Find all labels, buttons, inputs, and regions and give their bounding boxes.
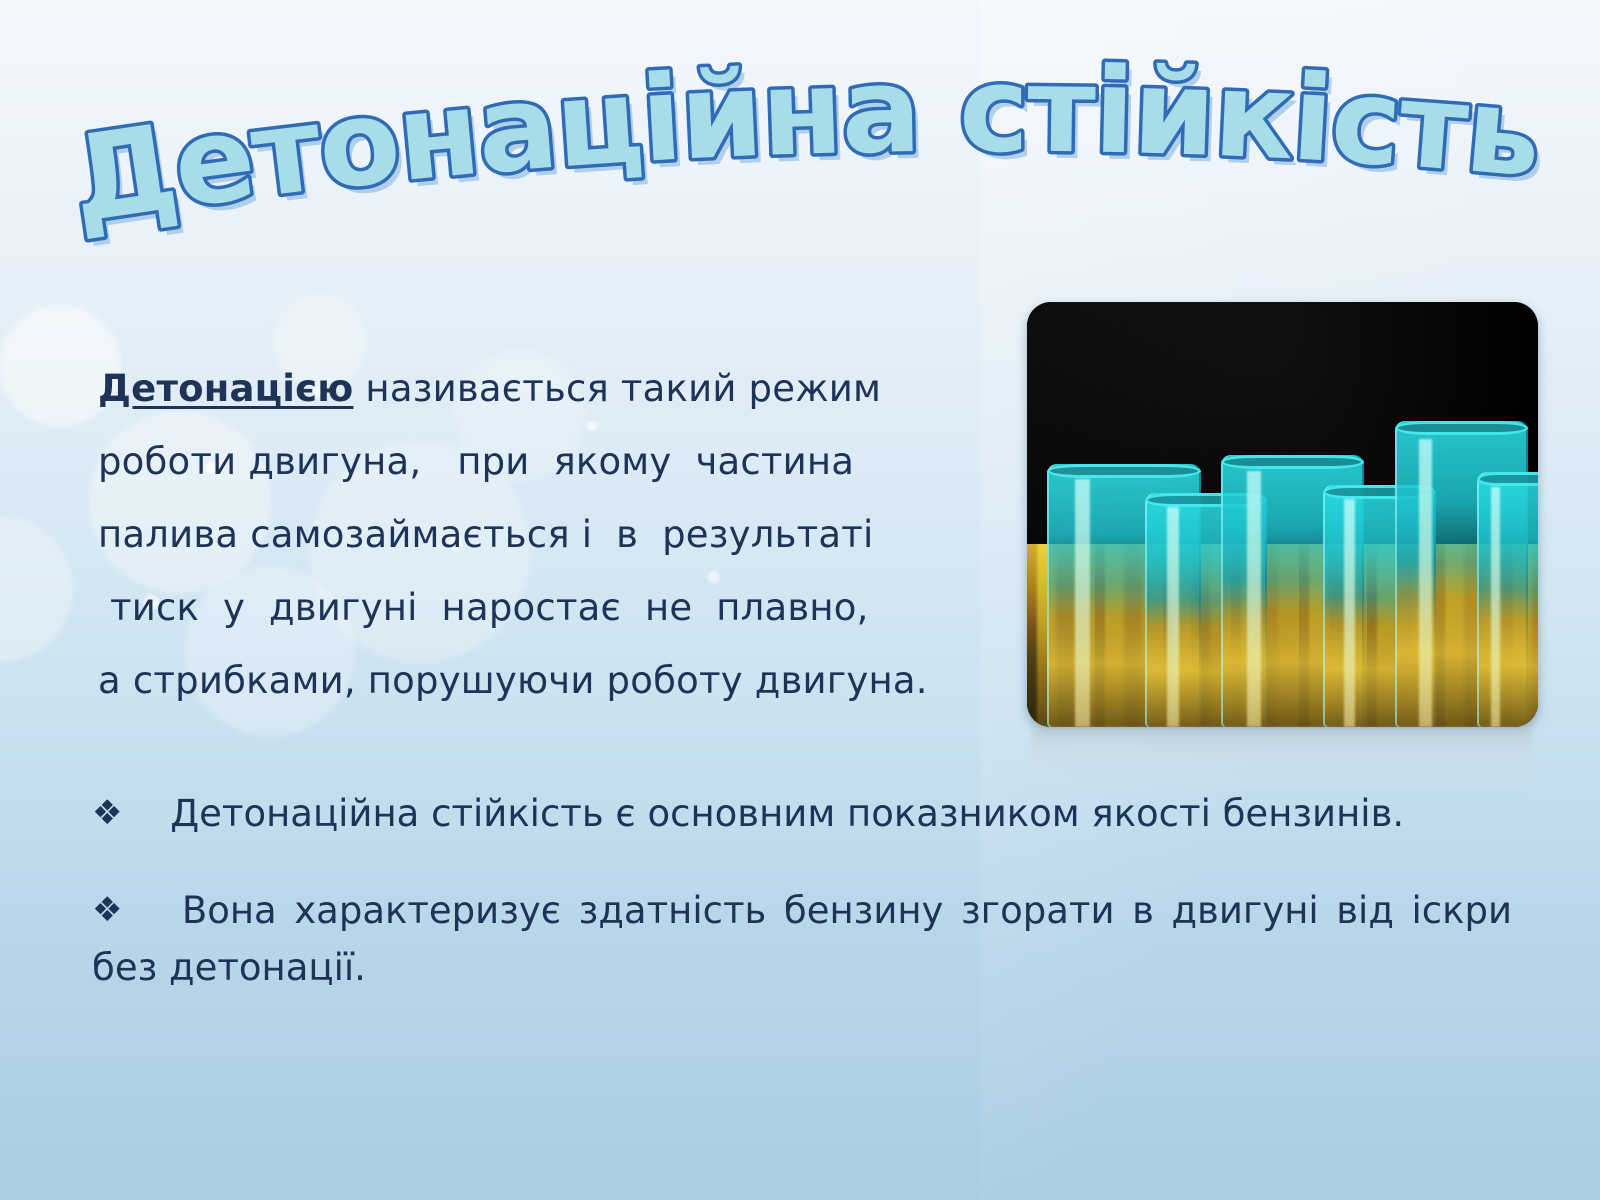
- title-wordart: Детонаційна стійкість бензину Детонаційн…: [70, 26, 1540, 276]
- definition-paragraph: Детонацією називається такий режим робот…: [98, 352, 998, 717]
- paragraph-line-3: палива самозаймається і в результаті: [98, 498, 998, 571]
- paragraph-line-1-rest: називається такий режим: [353, 367, 881, 410]
- diamond-bullet-icon: ❖: [92, 890, 128, 930]
- lead-term: Детонацією: [98, 367, 353, 410]
- list-item: ❖ Детонаційна стійкість є основним показ…: [92, 785, 1512, 842]
- tube-sheen: [1075, 479, 1090, 727]
- tube-sheen: [1419, 439, 1432, 727]
- test-tube: [1477, 472, 1538, 727]
- list-item-text: Вона характеризує здатність бензину згор…: [92, 889, 1512, 989]
- paragraph-line-5: а стрибками, порушуючи роботу двигуна.: [98, 644, 998, 717]
- list-item: ❖ Вона характеризує здатність бензину зг…: [92, 882, 1512, 996]
- slide-title: Детонаційна стійкість бензину Детонаційн…: [70, 26, 1540, 276]
- diamond-bullet-icon: ❖: [92, 793, 122, 833]
- photo-background: [1027, 302, 1538, 727]
- tube-sheen: [1344, 499, 1355, 727]
- test-tubes-photo: [1027, 302, 1538, 727]
- bullet-list: ❖ Детонаційна стійкість є основним показ…: [92, 785, 1512, 996]
- paragraph-line-4: тиск у двигуні наростає не плавно,: [98, 571, 998, 644]
- tube-sheen: [1167, 507, 1179, 727]
- presentation-slide: Детонаційна стійкість бензину Детонаційн…: [0, 0, 1600, 1200]
- tube-rim-icon: [1395, 421, 1528, 435]
- tube-sheen: [1491, 487, 1499, 727]
- list-item-text: Детонаційна стійкість є основним показни…: [158, 792, 1404, 835]
- paragraph-line-1: Детонацією називається такий режим: [98, 352, 998, 425]
- tube-rim-icon: [1477, 472, 1538, 486]
- tube-sheen: [1247, 471, 1261, 727]
- tube-rim-icon: [1221, 455, 1364, 469]
- tube-rim-icon: [1047, 464, 1200, 478]
- paragraph-line-2: роботи двигуна, при якому частина: [98, 425, 998, 498]
- title-main-text: Детонаційна стійкість бензину: [70, 26, 1540, 249]
